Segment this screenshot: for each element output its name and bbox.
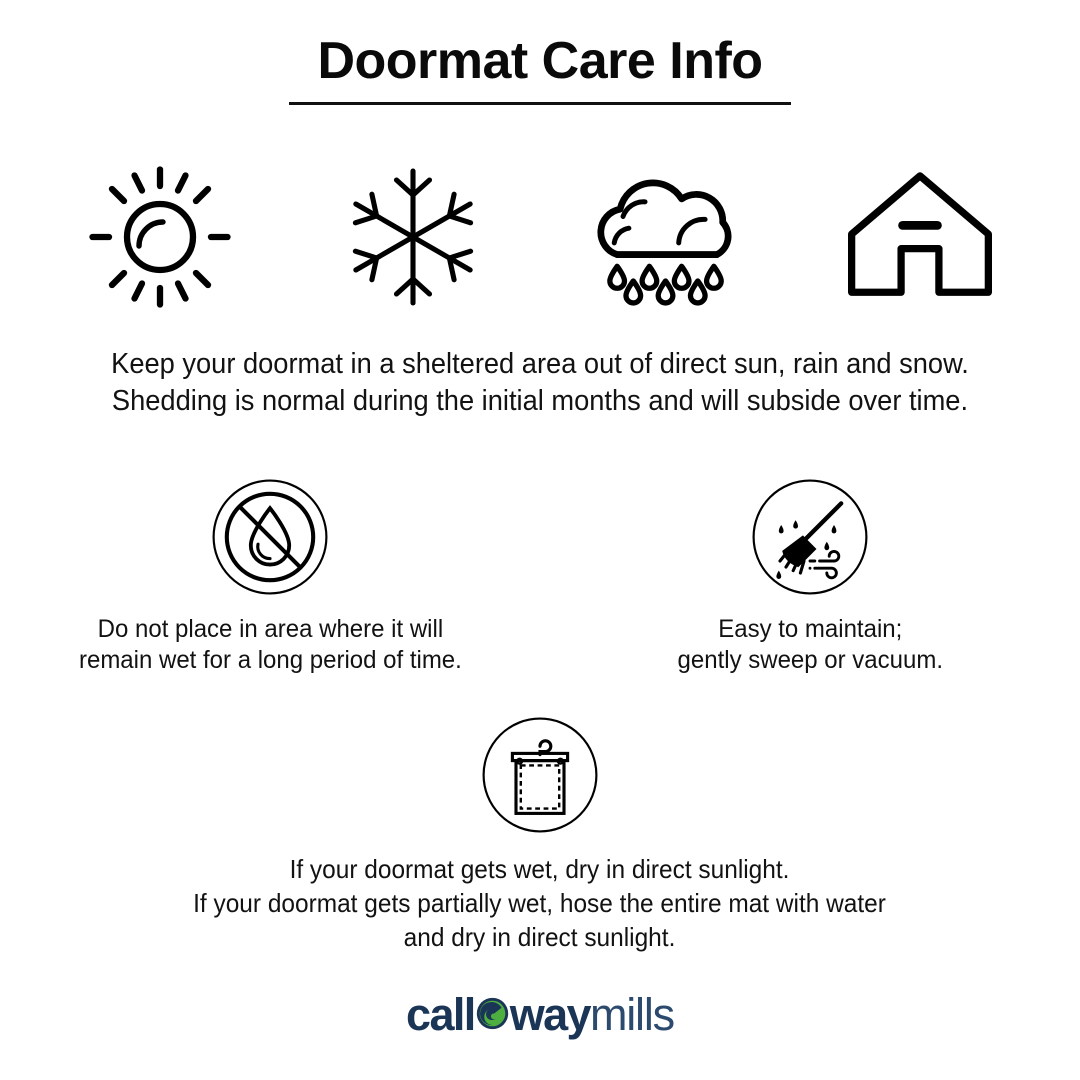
drying-line-2: If your doormat gets partially wet, hose… [194,886,887,920]
logo-text-mills: mills [590,992,674,1038]
drying-line-1: If your doormat gets wet, dry in direct … [194,852,887,886]
hanging-mat-dry-icon [480,715,600,835]
lead-line-1: Keep your doormat in a sheltered area ou… [32,346,1047,383]
care-icon-wrapper-left [210,472,330,602]
care-left-line-1: Do not place in area where it will [79,614,462,645]
care-right-line-1: Easy to maintain; [677,614,942,645]
page-title: Doormat Care Info [0,32,1080,90]
page-header: Doormat Care Info [0,32,1080,105]
drying-text: If your doormat gets wet, dry in direct … [171,852,908,954]
weather-cell-rain [567,152,767,322]
drying-icon-wrapper [480,712,600,838]
care-left-line-2: remain wet for a long period of time. [79,645,462,676]
no-water-icon [210,477,330,597]
care-icon-wrapper-right [750,472,870,602]
green-swirl-o-icon [476,997,509,1030]
care-text-left: Do not place in area where it will remai… [71,614,470,676]
care-info-page: Doormat Care Info [0,0,1080,1080]
house-icon [840,162,1000,312]
drying-section: If your doormat gets wet, dry in direct … [0,712,1080,954]
snowflake-icon [338,162,488,312]
logo-text-call: call [406,992,475,1038]
lead-line-2: Shedding is normal during the initial mo… [32,383,1047,420]
weather-cell-snow [313,152,513,322]
calloway-mills-logo: call way mills [0,992,1080,1038]
drying-line-3: and dry in direct sunlight. [194,920,887,954]
broom-sweep-icon [750,477,870,597]
weather-icon-row [60,152,1020,322]
weather-cell-house [820,152,1020,322]
care-column-maintain: Easy to maintain; gently sweep or vacuum… [540,472,1080,676]
care-text-right: Easy to maintain; gently sweep or vacuum… [672,614,949,676]
logo-text-way: way [510,992,590,1038]
rain-cloud-icon [582,162,752,312]
title-underline-rule [289,102,791,105]
sun-icon [85,162,235,312]
care-right-line-2: gently sweep or vacuum. [677,645,942,676]
weather-cell-sun [60,152,260,322]
care-two-column-row: Do not place in area where it will remai… [0,472,1080,676]
care-column-no-water: Do not place in area where it will remai… [0,472,540,676]
lead-paragraph: Keep your doormat in a sheltered area ou… [0,346,1080,420]
